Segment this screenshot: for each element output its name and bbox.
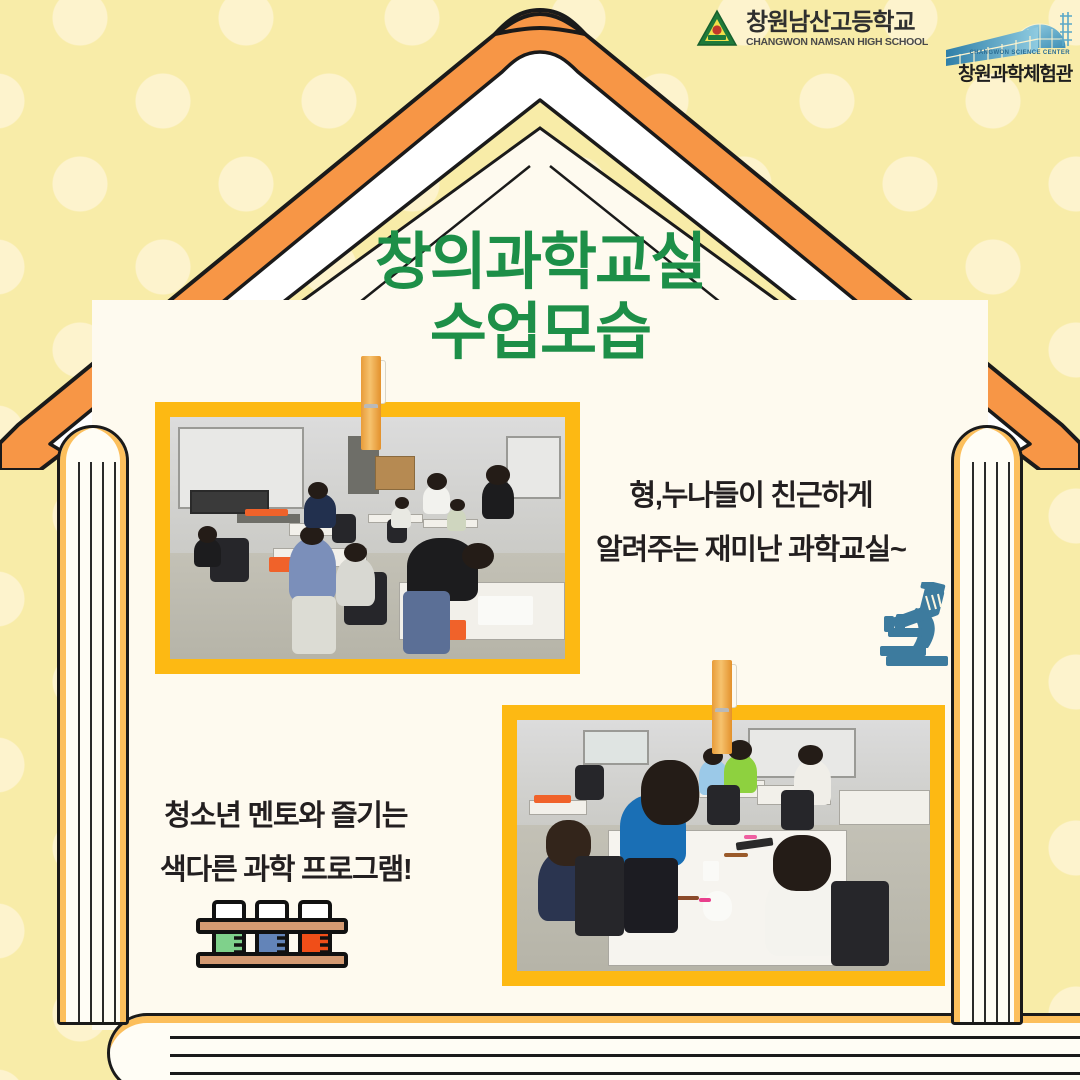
school-name-kr: 창원남산고등학교 xyxy=(746,11,928,35)
school-logo: 창원남산고등학교 CHANGWON NAMSAN HIGH SCHOOL xyxy=(695,8,928,50)
photo-image xyxy=(517,720,930,971)
title-line-1: 창의과학교실 xyxy=(375,228,705,297)
clothespin-icon xyxy=(355,356,389,452)
school-name-en: CHANGWON NAMSAN HIGH SCHOOL xyxy=(746,37,928,48)
pillar-flute xyxy=(984,462,986,1022)
caption-right-line-2: 알려주는 재미난 과학교실~ xyxy=(596,524,906,578)
caption-right-line-1: 형,누나들이 친근하게 xyxy=(596,470,906,524)
pillar-left xyxy=(57,425,129,1025)
pillar-flute xyxy=(996,462,998,1022)
caption-left-line-1: 청소년 멘토와 즐기는 xyxy=(160,790,412,844)
pillar-flute xyxy=(78,462,80,1022)
test-tube-rack-icon xyxy=(196,898,348,975)
header-logos: 창원남산고등학교 CHANGWON NAMSAN HIGH SCHOOL xyxy=(695,8,1072,86)
photo-image xyxy=(170,417,565,659)
page-title: 창의과학교실 수업모습 xyxy=(0,228,1080,368)
pillar-right xyxy=(951,425,1023,1025)
pillar-flute xyxy=(114,462,116,1022)
school-name-block: 창원남산고등학교 CHANGWON NAMSAN HIGH SCHOOL xyxy=(746,11,928,48)
caption-right: 형,누나들이 친근하게 알려주는 재미난 과학교실~ xyxy=(596,470,906,577)
foundation-line xyxy=(170,1036,1080,1039)
foundation-bar xyxy=(107,1013,1080,1080)
foundation-line xyxy=(170,1072,1080,1075)
science-center-name-en: CHANGWON SCIENCE CENTER xyxy=(969,50,1070,56)
school-crest-icon xyxy=(695,8,739,50)
pillar-flute xyxy=(972,462,974,1022)
pillar-flute xyxy=(90,462,92,1022)
title-line-2: 수업모습 xyxy=(0,298,1080,368)
microscope-icon xyxy=(866,582,962,673)
pillar-flute xyxy=(102,462,104,1022)
clothespin-icon xyxy=(706,660,740,756)
pillar-flute xyxy=(1008,462,1010,1022)
caption-left: 청소년 멘토와 즐기는 색다른 과학 프로그램! xyxy=(160,790,412,897)
science-center-logo: CHANGWON SCIENCE CENTER 창원과학체험관 xyxy=(942,8,1072,86)
foundation-line xyxy=(170,1054,1080,1057)
caption-left-line-2: 색다른 과학 프로그램! xyxy=(160,844,412,898)
poster-canvas: 창원남산고등학교 CHANGWON NAMSAN HIGH SCHOOL xyxy=(0,0,1080,1080)
science-center-name-kr: 창원과학체험관 xyxy=(958,59,1072,86)
